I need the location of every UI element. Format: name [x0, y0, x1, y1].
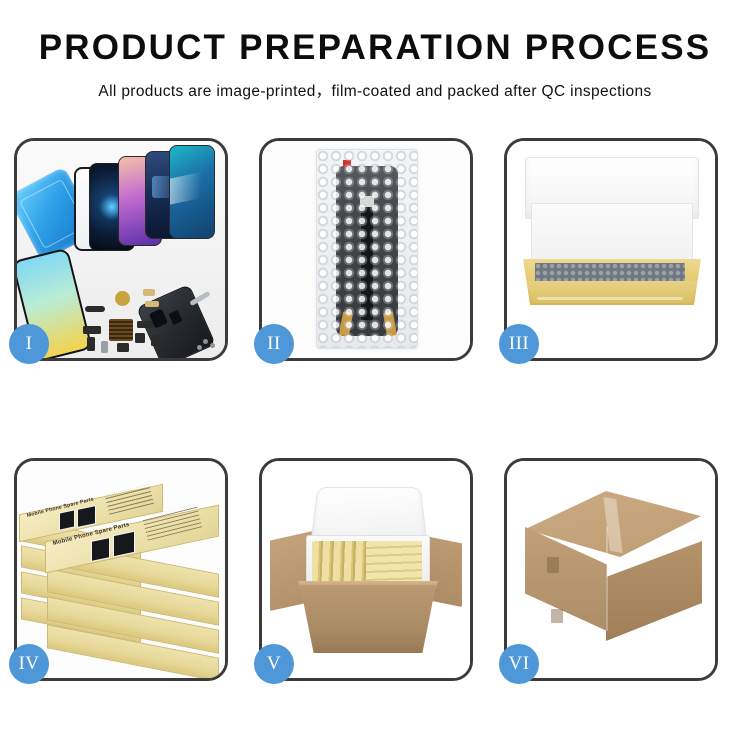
packed-yellow-boxes-2: [366, 541, 422, 583]
white-foam-sheet: [531, 203, 693, 267]
red-qc-sticker: [343, 160, 351, 167]
carton-handle-notch-2: [551, 609, 563, 623]
step-1-image: [17, 141, 225, 358]
box-window-thumb: [113, 531, 135, 558]
camera-lens-part: [115, 291, 130, 306]
screwdriver-bit: [101, 341, 108, 353]
process-step-3[interactable]: III: [504, 138, 718, 361]
carton-body: [300, 585, 436, 653]
process-step-2[interactable]: II: [259, 138, 473, 361]
speaker-part: [85, 306, 105, 312]
process-step-1[interactable]: I: [14, 138, 228, 361]
vibrator-part: [135, 333, 145, 343]
connector-part: [83, 326, 101, 334]
bubble-wrap-bag: [316, 149, 418, 349]
process-step-6[interactable]: VI: [504, 458, 718, 681]
process-step-5[interactable]: V: [259, 458, 473, 681]
box-window-thumb: [77, 505, 96, 528]
step-badge-3: III: [499, 324, 539, 364]
process-step-4[interactable]: Mobile Phone Spare Parts Mobile Phone Sp…: [14, 458, 228, 681]
screws-part: [203, 339, 208, 344]
step-badge-4: IV: [9, 644, 49, 684]
box-window-thumb: [91, 537, 110, 562]
flex-cable-part: [143, 289, 155, 296]
step-5-image: [262, 461, 470, 678]
page-title: PRODUCT PREPARATION PROCESS: [0, 30, 750, 67]
step-badge-2: II: [254, 324, 294, 364]
step-badge-1: I: [9, 324, 49, 364]
header: PRODUCT PREPARATION PROCESS All products…: [0, 0, 750, 101]
small-ic: [117, 343, 129, 352]
step-2-image: [262, 141, 470, 358]
box-stack: Mobile Phone Spare Parts Mobile Phone Sp…: [17, 461, 225, 678]
box-window-thumb: [59, 509, 75, 530]
antenna-part: [137, 321, 153, 328]
step-badge-6: VI: [499, 644, 539, 684]
screen-connector: [360, 196, 374, 207]
screen-flex-cable: [361, 202, 373, 320]
step-badge-5: V: [254, 644, 294, 684]
ic-chip-array: [109, 319, 133, 341]
step-4-image: Mobile Phone Spare Parts Mobile Phone Sp…: [17, 461, 225, 678]
carton-vertical-seam: [606, 527, 608, 631]
button-part: [87, 337, 95, 351]
page-subtitle: All products are image-printed，film-coat…: [0, 79, 750, 101]
product-preparation-infographic: PRODUCT PREPARATION PROCESS All products…: [0, 0, 750, 750]
process-step-grid: I II: [14, 138, 736, 681]
step-6-image: [507, 461, 715, 678]
sim-tray-part: [151, 335, 160, 346]
flex-cable-part-2: [145, 301, 159, 307]
step-3-image: [507, 141, 715, 358]
box-front-crease: [537, 297, 683, 300]
phone-display-teal: [169, 145, 215, 239]
carton-handle-notch: [547, 557, 559, 573]
